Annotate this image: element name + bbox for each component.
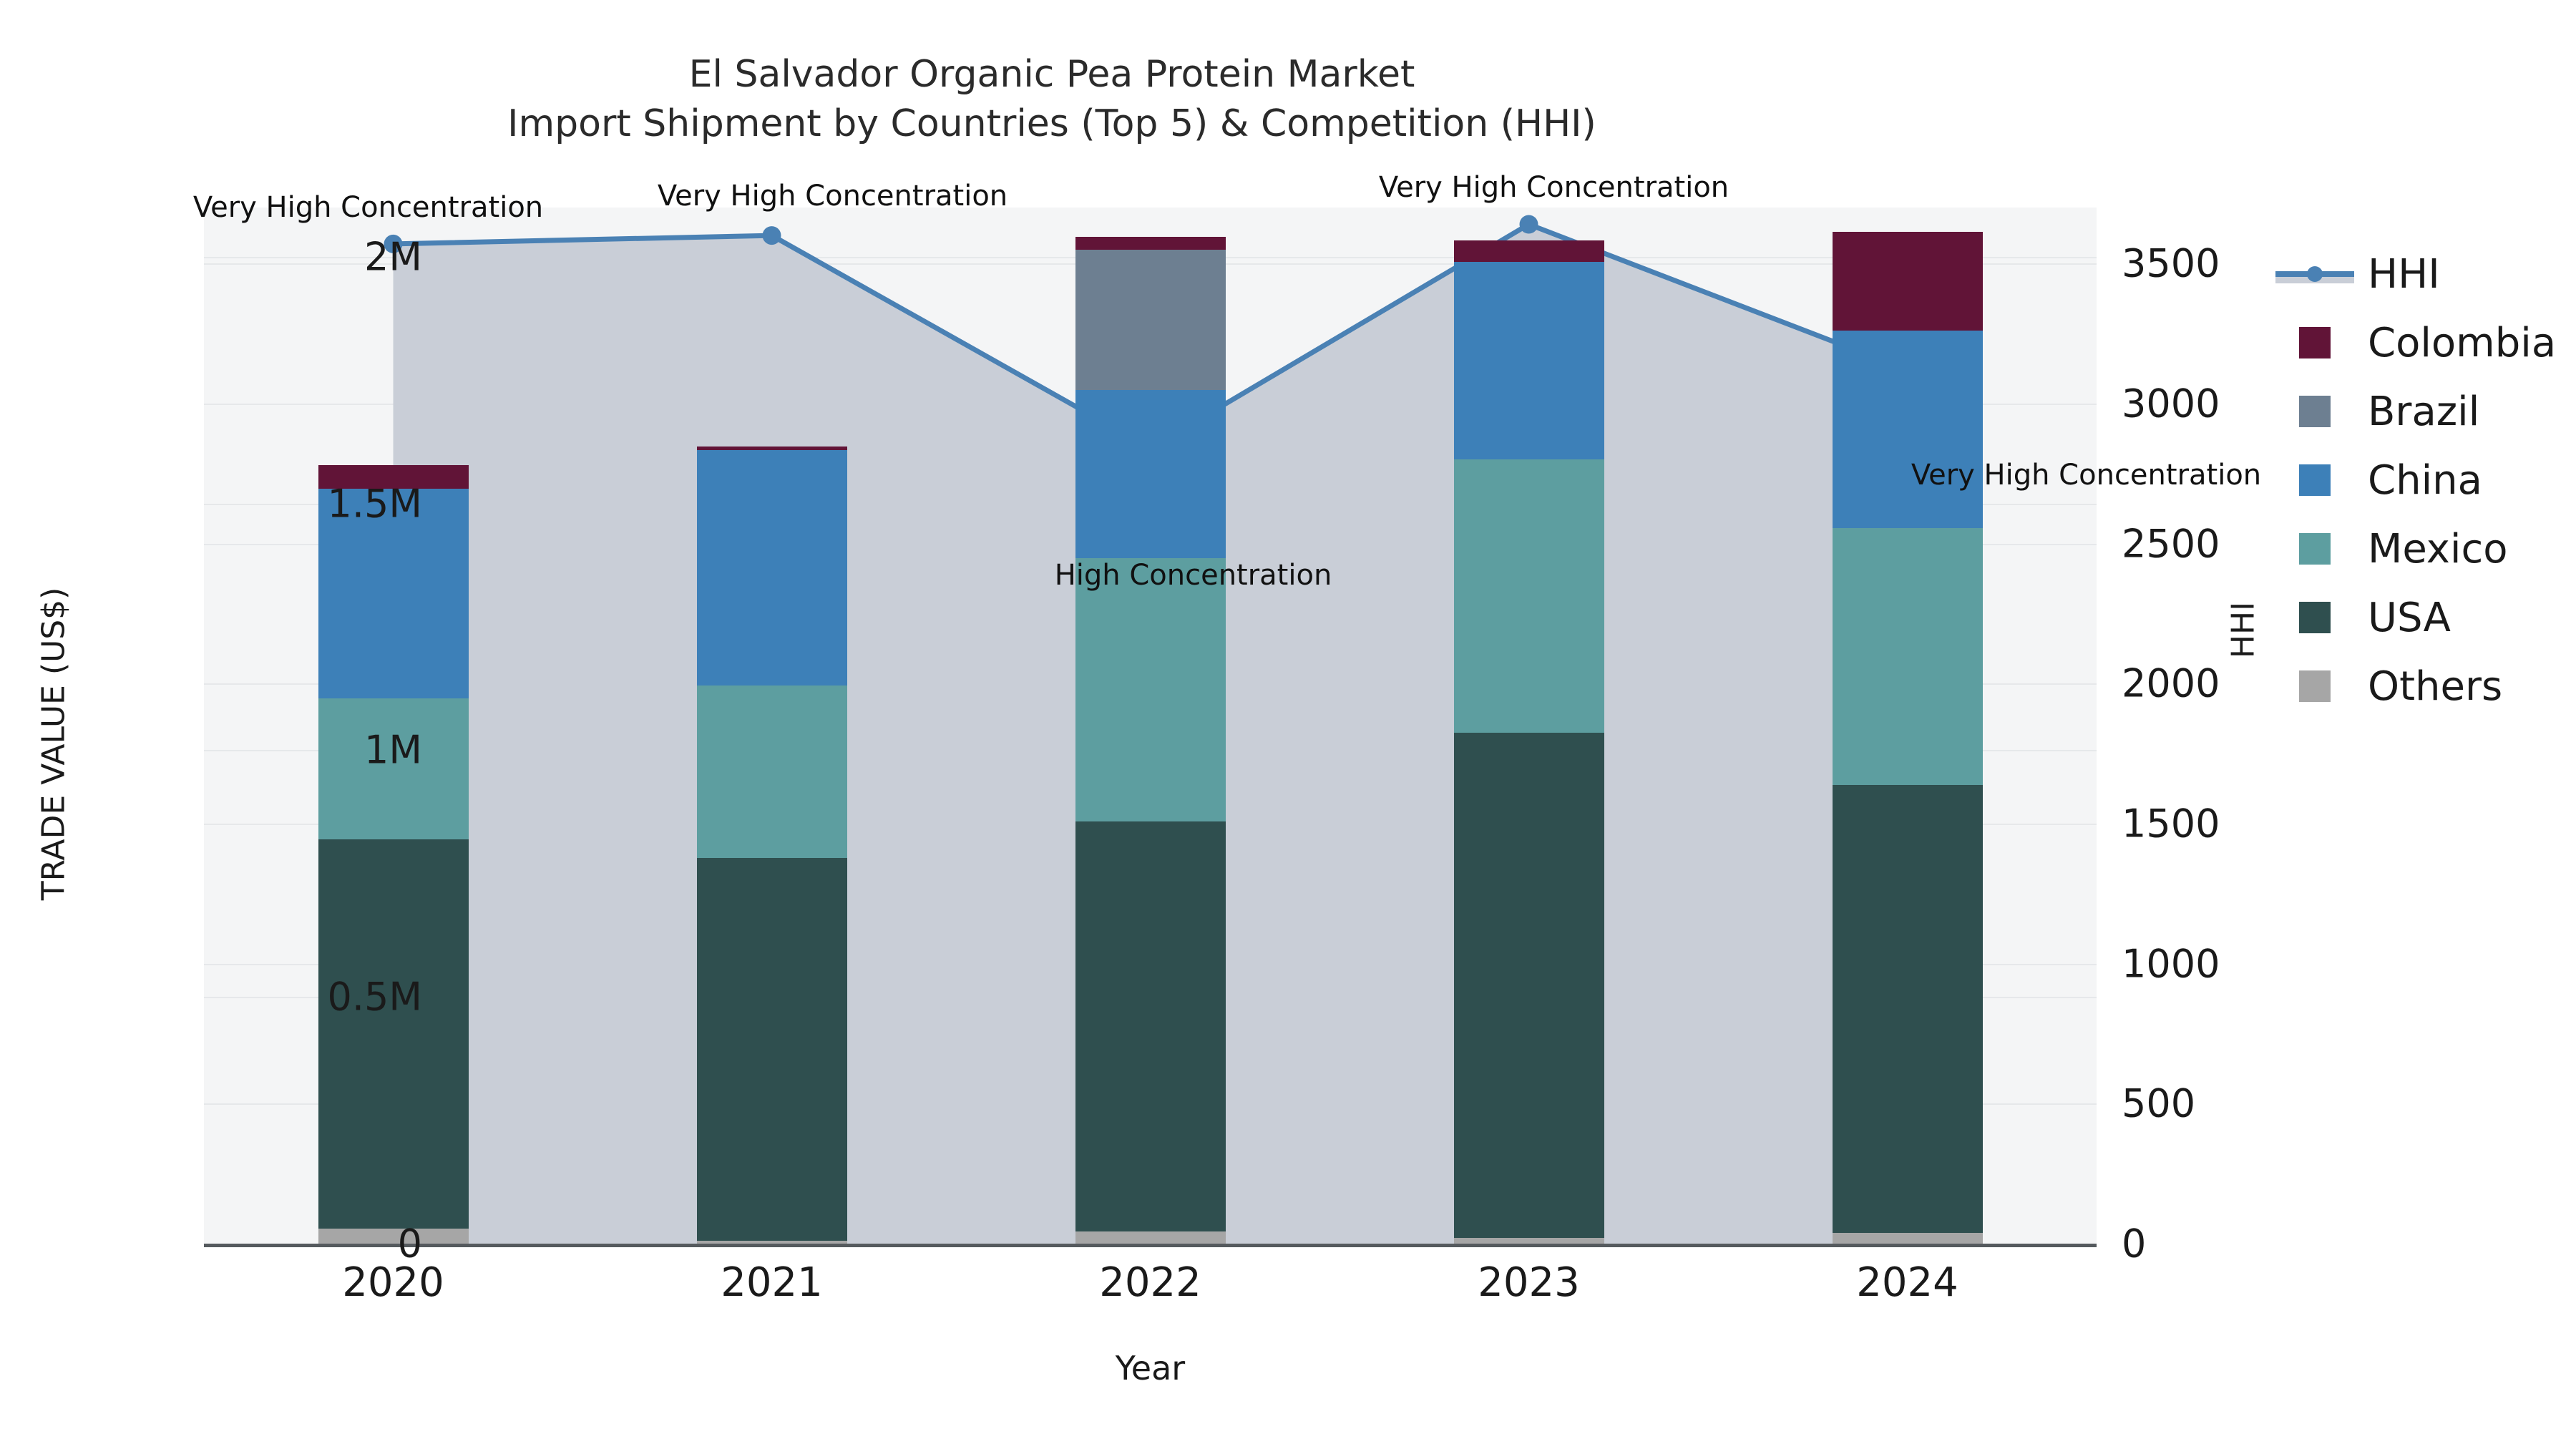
legend-label: USA: [2368, 595, 2451, 641]
bar-segment-china[interactable]: [1075, 390, 1226, 557]
y-axis-left-title: TRADE VALUE (US$): [36, 422, 72, 1066]
chart-subtitle: Import Shipment by Countries (Top 5) & C…: [0, 99, 2104, 149]
legend-swatch-icon: [2272, 670, 2358, 702]
color-swatch-icon: [2299, 670, 2331, 702]
bar-segment-usa[interactable]: [697, 858, 847, 1240]
y-axis-left-tick-label: 0.5M: [250, 975, 422, 1020]
y-axis-right-title: HHI: [2225, 523, 2262, 738]
y-axis-right-tick-label: 3500: [2122, 241, 2293, 286]
legend-item-china[interactable]: China: [2272, 446, 2556, 514]
y-axis-left-tick-label: 2M: [250, 234, 422, 279]
bar-segment-china[interactable]: [697, 450, 847, 686]
plot-area: [204, 208, 2097, 1244]
legend-item-others[interactable]: Others: [2272, 652, 2556, 721]
x-axis-spine: [204, 1244, 2097, 1247]
bar-group[interactable]: [1454, 208, 1604, 1244]
bar-group[interactable]: [1075, 208, 1226, 1244]
y-axis-right-tick-label: 0: [2122, 1221, 2293, 1267]
bar-segment-colombia[interactable]: [1454, 240, 1604, 262]
bar-segment-mexico[interactable]: [697, 686, 847, 858]
color-swatch-icon: [2299, 533, 2331, 565]
concentration-annotation: Very High Concentration: [193, 191, 543, 224]
bar-group[interactable]: [318, 208, 469, 1244]
x-axis-title: Year: [204, 1349, 2097, 1387]
legend-swatch-icon: [2272, 327, 2358, 358]
bar-segment-mexico[interactable]: [1075, 558, 1226, 822]
legend-item-colombia[interactable]: Colombia: [2272, 308, 2556, 377]
x-axis-tick-label: 2024: [1800, 1259, 2015, 1306]
x-axis-tick-label: 2020: [286, 1259, 501, 1306]
legend-label: Colombia: [2368, 320, 2556, 366]
x-axis-tick-label: 2022: [1043, 1259, 1258, 1306]
color-swatch-icon: [2299, 464, 2331, 496]
y-axis-right-tick-label: 500: [2122, 1081, 2293, 1126]
legend-swatch-icon: [2272, 464, 2358, 496]
legend-label: China: [2368, 457, 2482, 504]
legend-swatch-icon: [2272, 533, 2358, 565]
chart-title: El Salvador Organic Pea Protein Market: [0, 50, 2104, 99]
concentration-annotation: Very High Concentration: [658, 180, 1008, 213]
legend-label: Others: [2368, 663, 2502, 710]
y-axis-right-tick-label: 1500: [2122, 801, 2293, 846]
bar-segment-colombia[interactable]: [1075, 237, 1226, 249]
legend-label: HHI: [2368, 251, 2440, 298]
bar-segment-usa[interactable]: [1075, 821, 1226, 1231]
legend-item-hhi[interactable]: HHI: [2272, 240, 2556, 308]
bar-segment-mexico[interactable]: [1454, 459, 1604, 733]
y-axis-right-tick-label: 1000: [2122, 941, 2293, 986]
legend-item-mexico[interactable]: Mexico: [2272, 514, 2556, 583]
legend-label: Mexico: [2368, 526, 2508, 572]
bar-group[interactable]: [1833, 208, 1983, 1244]
legend-swatch-icon: [2272, 602, 2358, 633]
bar-segment-usa[interactable]: [318, 839, 469, 1229]
color-swatch-icon: [2299, 396, 2331, 427]
chart-title-block: El Salvador Organic Pea Protein Market I…: [0, 50, 2104, 148]
y-axis-right-tick-label: 2000: [2122, 661, 2293, 706]
y-axis-right-tick-label: 2500: [2122, 521, 2293, 566]
color-swatch-icon: [2299, 327, 2331, 358]
hhi-line-icon: [2272, 265, 2358, 283]
legend-swatch-icon: [2272, 396, 2358, 427]
bar-segment-others[interactable]: [1454, 1238, 1604, 1244]
bar-segment-china[interactable]: [1454, 262, 1604, 459]
bar-segment-others[interactable]: [1075, 1231, 1226, 1244]
legend-item-usa[interactable]: USA: [2272, 583, 2556, 652]
bar-segment-china[interactable]: [1833, 331, 1983, 528]
concentration-annotation: Very High Concentration: [1911, 459, 2261, 492]
chart-legend: HHIColombiaBrazilChinaMexicoUSAOthers: [2272, 240, 2556, 721]
bar-segment-others[interactable]: [1833, 1233, 1983, 1244]
x-axis-tick-label: 2023: [1422, 1259, 1636, 1306]
y-axis-left-tick-label: 1M: [250, 728, 422, 773]
bar-group[interactable]: [697, 208, 847, 1244]
concentration-annotation: High Concentration: [1055, 559, 1332, 592]
bar-segment-usa[interactable]: [1833, 785, 1983, 1233]
bar-segment-usa[interactable]: [1454, 733, 1604, 1237]
concentration-annotation: Very High Concentration: [1379, 171, 1729, 204]
bar-segment-colombia[interactable]: [697, 447, 847, 451]
x-axis-tick-label: 2021: [665, 1259, 879, 1306]
legend-item-brazil[interactable]: Brazil: [2272, 377, 2556, 446]
y-axis-right-tick-label: 3000: [2122, 381, 2293, 426]
legend-label: Brazil: [2368, 389, 2479, 435]
y-axis-left-tick-label: 1.5M: [250, 481, 422, 526]
bar-segment-brazil[interactable]: [1075, 250, 1226, 391]
color-swatch-icon: [2299, 602, 2331, 633]
bar-segment-colombia[interactable]: [1833, 232, 1983, 331]
bar-segment-mexico[interactable]: [1833, 528, 1983, 785]
